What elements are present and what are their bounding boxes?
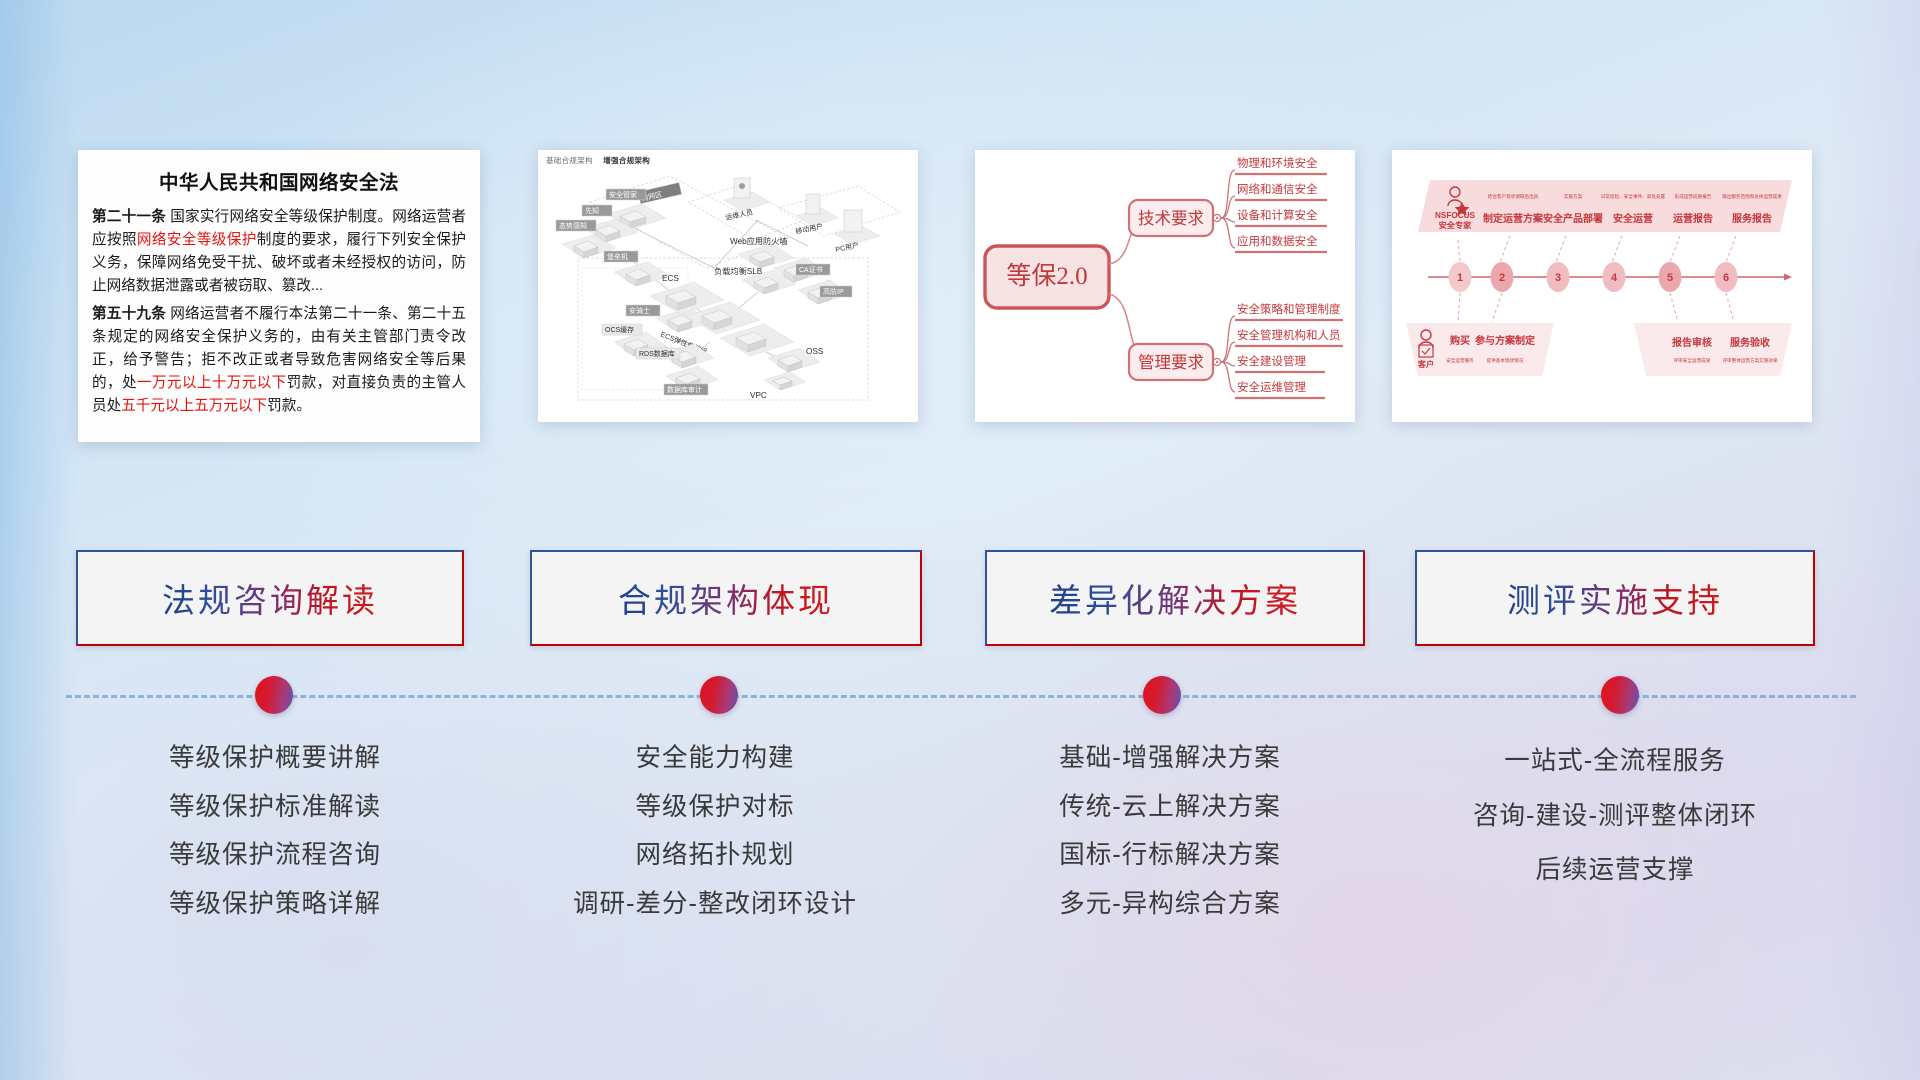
section-list-1: 等级保护概要讲解 等级保护标准解读 等级保护流程咨询 等级保护策略详解 <box>60 735 490 929</box>
section-title-4: 测评实施支持 <box>1507 574 1723 622</box>
list-item: 安全能力构建 <box>500 735 930 784</box>
svg-text:OCS缓存: OCS缓存 <box>605 325 634 334</box>
svg-text:OSS: OSS <box>806 347 824 356</box>
mindmap-branch-technical[interactable]: 技术要求 <box>1129 200 1221 236</box>
customer-title-4: 服务验收 <box>1730 336 1770 349</box>
law-title: 中华人民共和国网络安全法 <box>92 166 466 195</box>
mindmap-leaf-construction: 安全建设管理 <box>1235 354 1325 372</box>
mindmap-root-label: 等保2.0 <box>1006 262 1087 290</box>
expert-title-3: 安全运营 <box>1613 212 1653 225</box>
timeline-dashed-line <box>66 695 1856 698</box>
list-item: 基础-增强解决方案 <box>960 735 1380 784</box>
mindmap-root-node[interactable]: 等保2.0 <box>985 246 1109 308</box>
list-item: 咨询-建设-测评整体闭环 <box>1400 790 1830 845</box>
nsfocus-diagram: NSFOCUS 安全专家 结合客户现状调研后出具 制定运营方案 实施方案 安全产… <box>1392 150 1812 422</box>
node-pc-user: PC用户 <box>834 210 880 254</box>
expert-sub-4: 形成运营成果报告 <box>1675 193 1712 200</box>
section-title-1: 法规咨询解读 <box>162 574 378 622</box>
list-item: 传统-云上解决方案 <box>960 784 1380 833</box>
law-card[interactable]: 中华人民共和国网络安全法 第二十一条 国家实行网络安全等级保护制度。网络运营者应… <box>78 150 480 442</box>
section-title-2: 合规架构体现 <box>618 574 834 622</box>
mindmap-branch-technical-label: 技术要求 <box>1138 209 1204 228</box>
mindmap-leaf-construction-label: 安全建设管理 <box>1237 354 1306 368</box>
section-lists-row: 等级保护概要讲解 等级保护标准解读 等级保护流程咨询 等级保护策略详解 安全能力… <box>0 735 1920 975</box>
mindmap-leaf-network: 网络和通信安全 <box>1235 182 1327 200</box>
section-title-3: 差异化解决方案 <box>1049 574 1301 622</box>
svg-text:堡垒机: 堡垒机 <box>607 252 628 261</box>
section-titles-row: 法规咨询解读 合规架构体现 差异化解决方案 测评实施支持 <box>0 550 1920 650</box>
svg-text:高防IP: 高防IP <box>823 287 844 296</box>
mindmap-leaf-device-label: 设备和计算安全 <box>1237 208 1318 222</box>
timeline-arrow <box>1784 274 1792 281</box>
timeline-step-4-label: 4 <box>1611 272 1618 284</box>
list-item: 等级保护概要讲解 <box>60 735 490 784</box>
timeline-marker-4[interactable] <box>1601 676 1639 714</box>
mindmap-branch-management[interactable]: 管理要求 <box>1129 344 1221 380</box>
section-list-4: 一站式-全流程服务 咨询-建设-测评整体闭环 后续运营支撑 <box>1400 735 1830 899</box>
list-item: 调研-差分-整改闭环设计 <box>500 881 930 930</box>
timeline-step-2-label: 2 <box>1499 272 1505 284</box>
timeline-marker-3[interactable] <box>1143 676 1181 714</box>
node-bastion-host: 堡垒机 <box>604 251 670 286</box>
mindmap-leaf-application-label: 应用和数据安全 <box>1237 234 1318 248</box>
mindmap-leaf-policy: 安全策略和管理制度 <box>1235 302 1343 320</box>
timeline-marker-2[interactable] <box>700 676 738 714</box>
list-item: 后续运营支撑 <box>1400 844 1830 899</box>
svg-text:Web应用防火墙: Web应用防火墙 <box>730 236 788 246</box>
expert-role-line1: NSFOCUS <box>1435 211 1476 220</box>
svg-text:CA证书: CA证书 <box>799 265 823 274</box>
node-oss: OSS <box>768 347 824 372</box>
svg-text:ECS: ECS <box>662 274 679 283</box>
section-title-box-1[interactable]: 法规咨询解读 <box>76 550 464 646</box>
article-59-highlight-1: 一万元以上十万元以下 <box>137 375 287 391</box>
timeline-step-2: 2 <box>1491 262 1514 292</box>
article-59-label: 第五十九条 <box>92 306 166 322</box>
timeline-step-4: 4 <box>1603 262 1626 292</box>
mindmap-leaf-operation: 安全运维管理 <box>1235 380 1325 398</box>
expert-title-4: 运营报告 <box>1673 212 1713 225</box>
svg-text:安骑士: 安骑士 <box>629 306 650 315</box>
list-item: 等级保护策略详解 <box>60 881 490 930</box>
node-database-audit: 数据库审计 <box>664 366 718 395</box>
customer-title-3: 报告审核 <box>1672 336 1712 349</box>
mindmap-leaf-physical: 物理和环境安全 <box>1235 156 1327 174</box>
nsfocus-timeline-card[interactable]: NSFOCUS 安全专家 结合客户现状调研后出具 制定运营方案 实施方案 安全产… <box>1392 150 1812 422</box>
node-vpc: VPC <box>750 372 806 400</box>
svg-text:态势感知: 态势感知 <box>559 221 587 230</box>
timeline-step-1-label: 1 <box>1457 272 1463 284</box>
customer-title-2: 参与方案制定 <box>1475 334 1535 347</box>
timeline-strip <box>0 670 1920 722</box>
law-article-21: 第二十一条 国家实行网络安全等级保护制度。网络运营者应按照网络安全等级保护制度的… <box>92 206 466 298</box>
svg-text:数据库审计: 数据库审计 <box>667 385 702 394</box>
section-title-box-3[interactable]: 差异化解决方案 <box>985 550 1365 646</box>
expert-role-line2: 安全专家 <box>1439 220 1473 230</box>
mindmap-diagram: 等保2.0 技术要求 <box>975 150 1355 422</box>
svg-text:PC用户: PC用户 <box>835 240 860 254</box>
customer-sub-4: 评审整体运营方案实施效果 <box>1722 357 1778 364</box>
mindmap-leaf-policy-label: 安全策略和管理制度 <box>1237 302 1341 316</box>
mindmap-svg: 等保2.0 技术要求 <box>975 150 1355 422</box>
mindmap-leaf-org-label: 安全管理机构和人员 <box>1237 328 1341 342</box>
timeline-step-1: 1 <box>1449 262 1472 292</box>
timeline-step-3-label: 3 <box>1555 272 1561 284</box>
customer-role-label: 客户 <box>1417 359 1434 369</box>
section-title-box-2[interactable]: 合规架构体现 <box>530 550 922 646</box>
timeline-step-5: 5 <box>1659 262 1682 292</box>
timeline-step-6: 6 <box>1715 262 1738 292</box>
customer-sub-3: 评审安全运营成果 <box>1674 357 1711 364</box>
timeline-step-6-label: 6 <box>1723 272 1729 284</box>
article-21-highlight: 网络安全等级保护 <box>137 232 257 248</box>
mindmap-leaf-network-label: 网络和通信安全 <box>1237 182 1318 196</box>
mindmap-leaf-device: 设备和计算安全 <box>1235 208 1327 226</box>
svg-text:VPC: VPC <box>750 391 767 400</box>
svg-text:RDS数据库: RDS数据库 <box>639 349 675 358</box>
timeline-step-5-label: 5 <box>1667 272 1673 284</box>
expert-sub-5: 输出服务范围和总体运营成果 <box>1722 193 1782 200</box>
list-item: 等级保护流程咨询 <box>60 832 490 881</box>
law-article-59: 第五十九条 网络运营者不履行本法第二十一条、第二十五条规定的网络安全保护义务的，… <box>92 303 466 418</box>
article-59-highlight-2: 五千元以上五万元以下 <box>121 398 267 414</box>
expert-title-2: 安全产品部署 <box>1543 212 1603 225</box>
law-card-body: 中华人民共和国网络安全法 第二十一条 国家实行网络安全等级保护制度。网络运营者应… <box>78 150 480 433</box>
article-59-text-end: 罚款。 <box>267 398 311 414</box>
architecture-diagram: 基础合规架构 增强合规架构 <box>538 150 918 422</box>
list-item: 国标-行标解决方案 <box>960 832 1380 881</box>
cards-row: 中华人民共和国网络安全法 第二十一条 国家实行网络安全等级保护制度。网络运营者应… <box>0 150 1920 450</box>
mindmap-leaf-physical-label: 物理和环境安全 <box>1237 156 1318 170</box>
section-list-2: 安全能力构建 等级保护对标 网络拓扑规划 调研-差分-整改闭环设计 <box>500 735 930 929</box>
cloud-architecture-card[interactable]: 基础合规架构 增强合规架构 <box>538 150 918 422</box>
customer-banner-right <box>1634 323 1792 376</box>
node-anti-ddos-ip: 高防IP <box>798 280 852 304</box>
mindmap-branch-management-label: 管理要求 <box>1138 353 1204 372</box>
list-item: 多元-异构综合方案 <box>960 881 1380 930</box>
customer-sub-2: 提供基本现状情况 <box>1487 357 1524 364</box>
list-item: 网络拓扑规划 <box>500 832 930 881</box>
mindmap-leaf-org: 安全管理机构和人员 <box>1235 328 1343 346</box>
expert-title-5: 服务报告 <box>1732 212 1772 225</box>
expert-title-1: 制定运营方案 <box>1483 212 1544 225</box>
list-item: 等级保护对标 <box>500 784 930 833</box>
nsfocus-svg: NSFOCUS 安全专家 结合客户现状调研后出具 制定运营方案 实施方案 安全产… <box>1392 150 1812 422</box>
expert-sub-3: 日常巡检、安全事件、高危处置 <box>1601 193 1666 200</box>
list-item: 一站式-全流程服务 <box>1400 735 1830 790</box>
architecture-svg: 内网区 安全管家 <box>538 150 918 422</box>
timeline-step-3: 3 <box>1547 262 1570 292</box>
section-title-box-4[interactable]: 测评实施支持 <box>1415 550 1815 646</box>
customer-title-1: 购买 <box>1450 334 1470 347</box>
customer-sub-1: 安全运营服务 <box>1446 357 1474 364</box>
node-mobile-user: 移动用户 <box>795 194 838 236</box>
section-list-3: 基础-增强解决方案 传统-云上解决方案 国标-行标解决方案 多元-异构综合方案 <box>960 735 1380 929</box>
page-root: 中华人民共和国网络安全法 第二十一条 国家实行网络安全等级保护制度。网络运营者应… <box>0 0 1920 1080</box>
timeline-marker-1[interactable] <box>255 676 293 714</box>
list-item: 等级保护标准解读 <box>60 784 490 833</box>
svg-text:安全管家: 安全管家 <box>609 190 637 199</box>
expert-sub-2: 实施方案 <box>1564 193 1583 200</box>
node-waf: Web应用防火墙 <box>730 236 794 268</box>
svg-text:先知: 先知 <box>585 206 599 215</box>
mindmap-card[interactable]: 等保2.0 技术要求 <box>975 150 1355 422</box>
mindmap-leaf-operation-label: 安全运维管理 <box>1237 380 1306 394</box>
mindmap-leaf-application: 应用和数据安全 <box>1235 234 1327 252</box>
expert-sub-1: 结合客户现状调研后出具 <box>1488 193 1539 200</box>
node-ops-personnel: 运维人员 <box>724 178 770 222</box>
article-21-label: 第二十一条 <box>92 209 166 225</box>
svg-text:负载均衡SLB: 负载均衡SLB <box>714 266 763 276</box>
